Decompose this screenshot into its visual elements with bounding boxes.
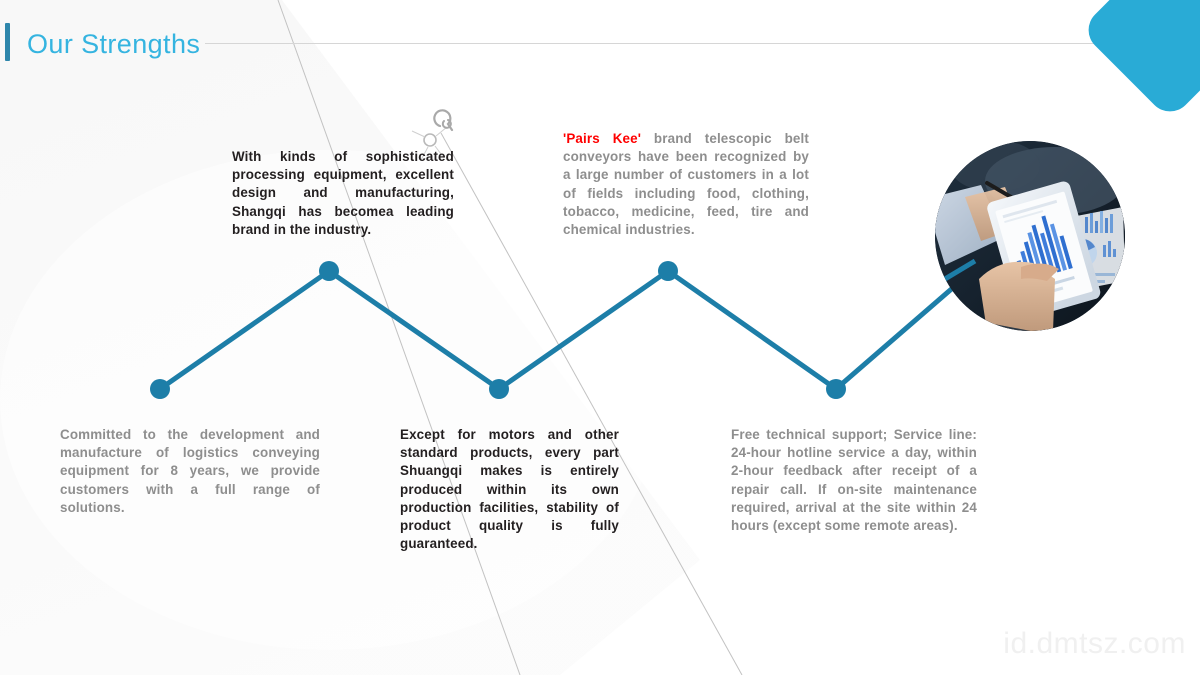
corner-diamond-shape xyxy=(1079,0,1200,121)
page-title: Our Strengths xyxy=(27,27,200,61)
network-node-icon xyxy=(0,0,1200,675)
zigzag-node-1 xyxy=(150,379,170,399)
slide-root: Our Strengths With kinds of sophisticate… xyxy=(0,0,1200,675)
strength-text-manufacturing: Except for motors and other standard pro… xyxy=(400,426,619,553)
zigzag-node-4 xyxy=(658,261,678,281)
brand-name-highlight: 'Pairs Kee' xyxy=(563,131,641,146)
background-decor xyxy=(0,0,1200,675)
strength-text-brand: 'Pairs Kee' brand telescopic belt convey… xyxy=(563,130,809,239)
zigzag-node-2 xyxy=(319,261,339,281)
zigzag-node-3 xyxy=(489,379,509,399)
zigzag-node-5 xyxy=(826,379,846,399)
zigzag-polyline xyxy=(160,221,1030,389)
strength-text-equipment: With kinds of sophisticated processing e… xyxy=(232,148,454,239)
strength-text-development: Committed to the development and manufac… xyxy=(60,426,320,517)
zigzag-chart xyxy=(0,0,1200,675)
strength-text-support: Free technical support; Service line: 24… xyxy=(731,426,977,535)
header-accent-bar xyxy=(5,23,10,61)
strength-text-brand-body: brand telescopic belt conveyors have bee… xyxy=(563,131,809,237)
tablet-analytics-photo xyxy=(935,141,1125,331)
header-rule xyxy=(205,43,1185,44)
decor-diagonal-1 xyxy=(278,0,520,675)
site-watermark: id.dmtsz.com xyxy=(1003,627,1186,661)
